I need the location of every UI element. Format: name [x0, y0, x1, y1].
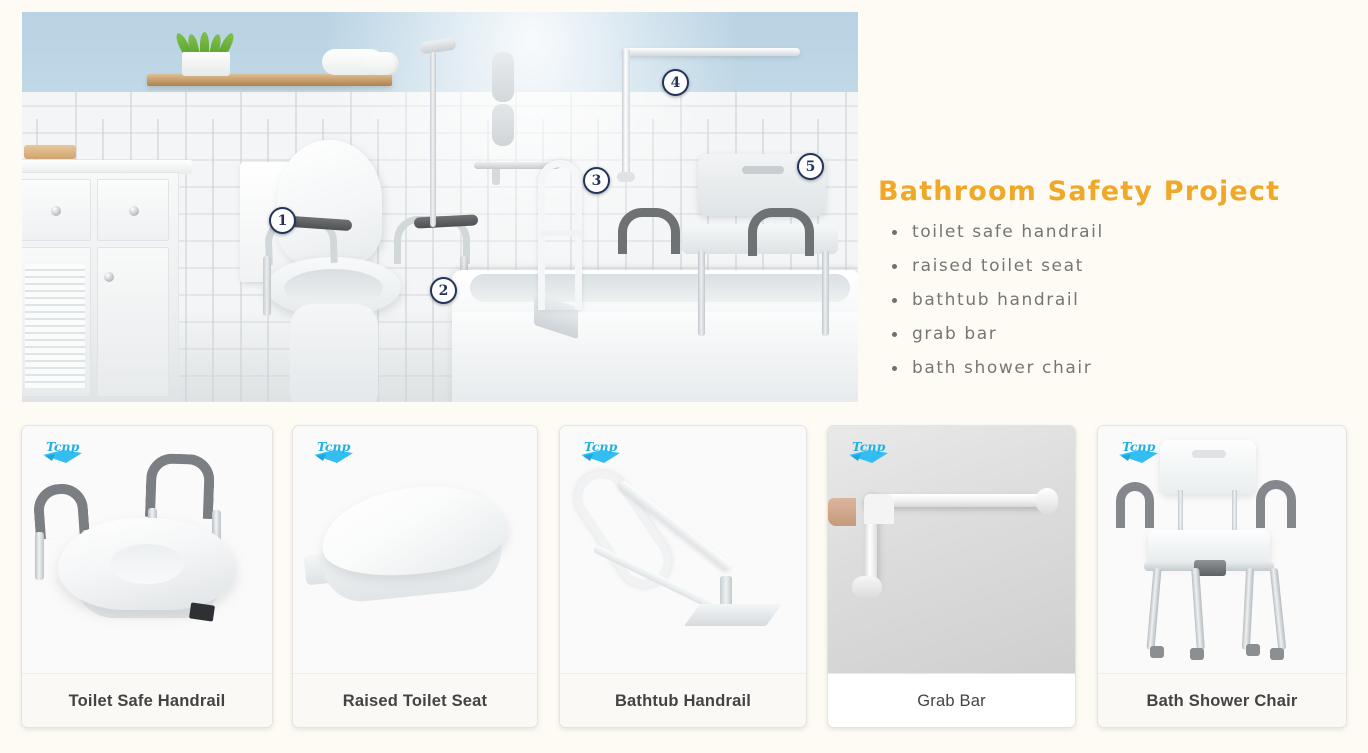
hero-scene: 1 2 3 4 5 [22, 12, 858, 402]
soap-tray [24, 145, 76, 159]
shower-chair-armrest-right [748, 208, 814, 256]
chair-armrest-right [1256, 480, 1296, 528]
hero-bathroom-image: 1 2 3 4 5 [22, 12, 858, 402]
plant-pot [182, 52, 230, 76]
bullet-icon [892, 332, 897, 337]
product-image-toilet-safe-handrail: Tcnp [22, 426, 272, 673]
bathroom-safety-page: 1 2 3 4 5 Bathroom Safety Project toilet… [0, 0, 1368, 753]
bathtub-apron [452, 312, 858, 402]
product-image-bath-shower-chair: Tcnp [1098, 426, 1346, 673]
chair-leg [1146, 568, 1161, 650]
feature-label: bathtub handrail [912, 290, 1080, 310]
vanity-cabinet [22, 172, 179, 402]
brand-logo-icon: Tcnp [311, 438, 357, 466]
cabinet-door [97, 247, 169, 397]
chair-backrest [1160, 440, 1256, 494]
bullet-icon [892, 366, 897, 371]
wall-grab-bar-vertical [622, 48, 630, 178]
bathtub-handrail-rung [540, 230, 582, 236]
product-card-raised-toilet-seat[interactable]: Tcnp Raised Toilet Seat [292, 425, 538, 728]
chair-foot-cap [1150, 646, 1164, 658]
callout-badge-2[interactable]: 2 [430, 277, 457, 304]
shower-chair-armrest-left [618, 208, 680, 254]
bullet-icon [892, 230, 897, 235]
bullet-icon [892, 298, 897, 303]
page-title: Bathroom Safety Project [878, 176, 1348, 207]
feature-label: bath shower chair [912, 358, 1092, 378]
cabinet-drawer [97, 179, 169, 241]
toilet-base [290, 304, 378, 402]
toilet-handrail-left-post [263, 256, 271, 316]
callout-badge-4[interactable]: 4 [662, 69, 689, 96]
product-title: Toilet Safe Handrail [22, 673, 272, 728]
product-card-toilet-safe-handrail[interactable]: Tcnp Toilet Safe Handrail [21, 425, 273, 728]
cabinet-drawer [22, 179, 91, 241]
raised-seat-body [58, 518, 236, 610]
cabinet-door-louvered [22, 247, 91, 397]
backrest-post [1232, 490, 1237, 534]
feature-list: toilet safe handrail raised toilet seat … [878, 224, 1348, 377]
shower-handset-lower [492, 104, 514, 146]
info-panel: Bathroom Safety Project toilet safe hand… [878, 176, 1348, 394]
brand-logo-icon: Tcnp [40, 438, 86, 466]
chair-leg [1270, 568, 1287, 650]
list-item: raised toilet seat [912, 258, 1348, 275]
product-image-bathtub-handrail: Tcnp [560, 426, 806, 673]
hand-holding-bar [828, 498, 856, 526]
handrail-mounting-plate [684, 604, 782, 626]
drawer-knob [129, 206, 139, 216]
list-item: bathtub handrail [912, 292, 1348, 309]
chair-foot-cap [1190, 648, 1204, 660]
product-card-grab-bar[interactable]: Tcnp Grab Bar [827, 425, 1076, 728]
grab-bar-flange-right [1036, 488, 1058, 514]
shower-handset [492, 52, 514, 102]
chair-seat [1148, 530, 1270, 564]
chair-leg [1191, 568, 1205, 650]
product-card-bath-shower-chair[interactable]: Tcnp [1097, 425, 1347, 728]
door-knob [104, 272, 114, 282]
callout-badge-3[interactable]: 3 [583, 167, 610, 194]
drawer-knob [51, 206, 61, 216]
shower-slide-bar [430, 52, 436, 227]
product-image-raised-toilet-seat: Tcnp [293, 426, 537, 673]
backrest-post [1178, 490, 1183, 534]
svg-text:Tcnp: Tcnp [584, 439, 618, 454]
svg-text:Tcnp: Tcnp [317, 439, 351, 454]
chair-leg [1242, 568, 1254, 650]
chair-foot-cap [1246, 644, 1260, 656]
bullet-icon [892, 264, 897, 269]
chair-armrest-left [1116, 482, 1154, 528]
chair-foot-cap [1270, 648, 1284, 660]
grab-bar-corner-joint [864, 494, 894, 524]
svg-text:Tcnp: Tcnp [852, 439, 886, 454]
feature-label: grab bar [912, 324, 997, 344]
brand-logo-icon: Tcnp [846, 438, 892, 466]
list-item: toilet safe handrail [912, 224, 1348, 241]
grab-bar-flange-bottom [852, 576, 882, 598]
brand-logo-icon: Tcnp [1116, 438, 1162, 466]
product-title: Grab Bar [828, 673, 1075, 728]
shower-chair-leg [822, 250, 829, 336]
rolled-towel-second [365, 52, 399, 75]
shower-chair-leg [698, 250, 705, 336]
list-item: grab bar [912, 326, 1348, 343]
product-card-bathtub-handrail[interactable]: Tcnp Bathtub Handrail [559, 425, 807, 728]
product-card-row: Tcnp Toilet Safe Handrail [21, 425, 1351, 730]
callout-badge-5[interactable]: 5 [797, 153, 824, 180]
wall-grab-bar-flange [617, 172, 635, 182]
louver-slats [25, 264, 85, 388]
handrail-post [35, 532, 44, 580]
product-title: Raised Toilet Seat [293, 673, 537, 728]
svg-text:Tcnp: Tcnp [1122, 439, 1156, 454]
product-title: Bathtub Handrail [560, 673, 806, 728]
tub-faucet-spout [492, 169, 500, 185]
svg-text:Tcnp: Tcnp [46, 439, 80, 454]
brand-logo-icon: Tcnp [578, 438, 624, 466]
product-image-grab-bar: Tcnp [828, 426, 1075, 673]
feature-label: toilet safe handrail [912, 222, 1104, 242]
seat-clamp [189, 602, 215, 621]
list-item: bath shower chair [912, 360, 1348, 377]
product-title: Bath Shower Chair [1098, 673, 1346, 728]
bathtub-rim [470, 274, 850, 302]
callout-badge-1[interactable]: 1 [269, 207, 296, 234]
wall-grab-bar-horizontal [622, 48, 800, 56]
feature-label: raised toilet seat [912, 256, 1084, 276]
